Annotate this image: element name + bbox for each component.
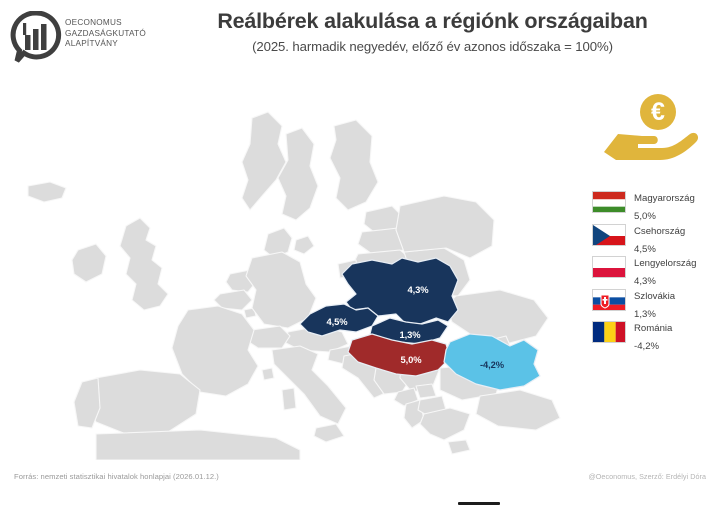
legend-item-poland[interactable]: Lengyelország 4,3%: [592, 255, 720, 285]
legend-country-poland: Lengyelország: [634, 258, 696, 269]
country-kosovo: [416, 384, 436, 398]
brand-logo: OECONOMUS GAZDASÁGKUTATÓ ALAPÍTVÁNY: [10, 9, 160, 67]
title-block: Reálbérek alakulása a régiónk országaiba…: [160, 8, 705, 54]
map-label-romania: -4,2%: [480, 359, 505, 370]
header: OECONOMUS GAZDASÁGKUTATÓ ALAPÍTVÁNY Reál…: [0, 0, 720, 78]
hungary-flag-icon: [592, 191, 626, 213]
legend-text-slovakia: Szlovákia 1,3%: [634, 286, 720, 322]
legend-country-romania: Románia: [634, 323, 672, 334]
logo-line-3: ALAPÍTVÁNY: [65, 39, 146, 50]
map-label-slovakia: 1,3%: [400, 329, 422, 340]
map-label-hungary: 5,0%: [401, 354, 423, 365]
romania-flag-icon: [592, 321, 626, 343]
poland-flag-icon: [592, 256, 626, 278]
legend-value-romania: -4,2%: [634, 341, 659, 352]
country-corsica: [262, 368, 274, 380]
logo-line-1: OECONOMUS: [65, 18, 146, 29]
map-label-czechia: 4,5%: [327, 316, 349, 327]
legend-item-romania[interactable]: Románia -4,2%: [592, 320, 720, 350]
source-note: Forrás: nemzeti statisztikai hivatalok h…: [14, 472, 219, 481]
brand-logo-text: OECONOMUS GAZDASÁGKUTATÓ ALAPÍTVÁNY: [65, 18, 146, 50]
page-title: Reálbérek alakulása a régiónk országaiba…: [160, 8, 705, 34]
legend-item-slovakia[interactable]: Szlovákia 1,3%: [592, 288, 720, 318]
legend-item-czechia[interactable]: Csehország 4,5%: [592, 223, 720, 253]
hand-holding-euro-coin-icon: €: [602, 90, 702, 162]
credit-note: @Oeconomus, Szerző: Erdélyi Dóra: [588, 472, 706, 481]
page-subtitle: (2025. harmadik negyedév, előző év azono…: [160, 39, 705, 54]
czechia-flag-icon: [592, 224, 626, 246]
map-label-poland: 4,3%: [408, 284, 430, 295]
legend-item-hungary[interactable]: Magyarország 5,0%: [592, 190, 720, 220]
logo-line-2: GAZDASÁGKUTATÓ: [65, 29, 146, 40]
legend-country-hungary: Magyarország: [634, 193, 695, 204]
footer: Forrás: nemzeti statisztikai hivatalok h…: [0, 460, 720, 506]
legend-country-slovakia: Szlovákia: [634, 291, 675, 302]
oeconomus-bubble-chart-logo-icon: [10, 11, 62, 63]
legend-text-hungary: Magyarország 5,0%: [634, 188, 720, 224]
slovakia-flag-icon: [592, 289, 626, 311]
country-sardinia: [282, 388, 296, 410]
legend-text-czechia: Csehország 4,5%: [634, 221, 720, 257]
bottom-indicator-bar[interactable]: [458, 502, 500, 505]
legend-text-poland: Lengyelország 4,3%: [634, 253, 720, 289]
right-panel: € Magyarország 5,0%: [588, 82, 720, 382]
legend-text-romania: Románia -4,2%: [634, 318, 720, 354]
legend-country-czechia: Csehország: [634, 226, 685, 237]
svg-text:€: €: [651, 98, 665, 126]
legend: Magyarország 5,0% Csehország 4,5%: [592, 190, 720, 353]
